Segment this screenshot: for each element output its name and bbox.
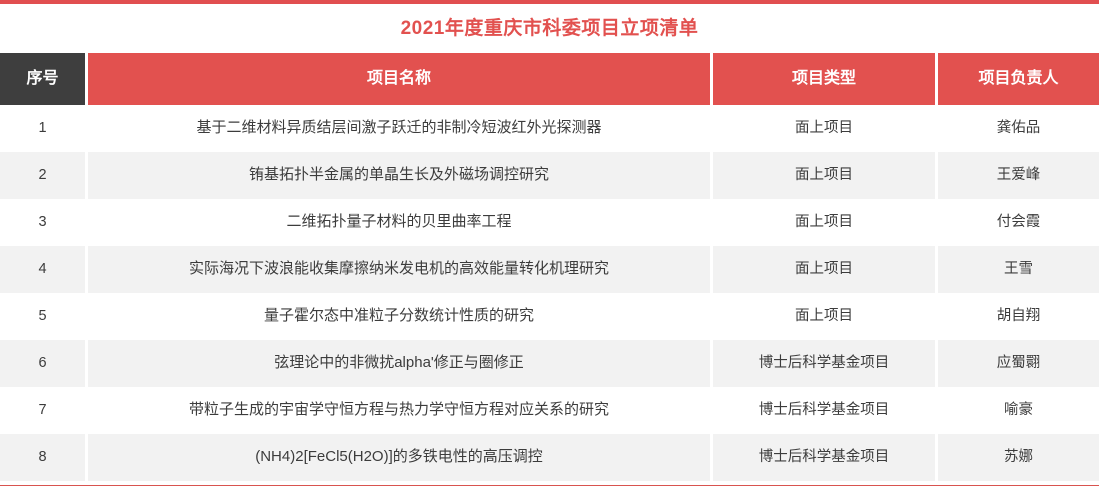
- cell-index: 1: [0, 105, 85, 152]
- cell-owner: 龚佑品: [935, 105, 1099, 152]
- table-header: 序号 项目名称 项目类型 项目负责人: [0, 53, 1099, 105]
- cell-owner: 王雪: [935, 246, 1099, 293]
- column-header-owner[interactable]: 项目负责人: [935, 53, 1099, 105]
- table-row[interactable]: 3二维拓扑量子材料的贝里曲率工程面上项目付会霞: [0, 199, 1099, 246]
- table-row[interactable]: 2铕基拓扑半金属的单晶生长及外磁场调控研究面上项目王爱峰: [0, 152, 1099, 199]
- cell-name: 弦理论中的非微扰alpha'修正与圈修正: [85, 340, 710, 387]
- cell-index: 5: [0, 293, 85, 340]
- cell-type: 面上项目: [710, 199, 935, 246]
- column-header-type[interactable]: 项目类型: [710, 53, 935, 105]
- project-table: 序号 项目名称 项目类型 项目负责人 1基于二维材料异质结层间激子跃迁的非制冷短…: [0, 53, 1099, 481]
- table-row[interactable]: 8(NH4)2[FeCl5(H2O)]的多铁电性的高压调控博士后科学基金项目苏娜: [0, 434, 1099, 481]
- cell-index: 4: [0, 246, 85, 293]
- cell-name: 基于二维材料异质结层间激子跃迁的非制冷短波红外光探测器: [85, 105, 710, 152]
- cell-owner: 喻豪: [935, 387, 1099, 434]
- cell-owner: 应蜀翾: [935, 340, 1099, 387]
- project-list-page: 2021年度重庆市科委项目立项清单 序号 项目名称 项目类型 项目负责人 1基于…: [0, 0, 1099, 489]
- cell-type: 面上项目: [710, 152, 935, 199]
- cell-owner: 苏娜: [935, 434, 1099, 481]
- cell-index: 6: [0, 340, 85, 387]
- bottom-accent-line: [0, 485, 1099, 487]
- cell-type: 面上项目: [710, 293, 935, 340]
- table-row[interactable]: 4实际海况下波浪能收集摩擦纳米发电机的高效能量转化机理研究面上项目王雪: [0, 246, 1099, 293]
- page-title: 2021年度重庆市科委项目立项清单: [401, 19, 699, 38]
- title-bar: 2021年度重庆市科委项目立项清单: [0, 4, 1099, 53]
- column-header-name[interactable]: 项目名称: [85, 53, 710, 105]
- table-row[interactable]: 7带粒子生成的宇宙学守恒方程与热力学守恒方程对应关系的研究博士后科学基金项目喻豪: [0, 387, 1099, 434]
- cell-type: 博士后科学基金项目: [710, 434, 935, 481]
- cell-name: 二维拓扑量子材料的贝里曲率工程: [85, 199, 710, 246]
- table-row[interactable]: 1基于二维材料异质结层间激子跃迁的非制冷短波红外光探测器面上项目龚佑品: [0, 105, 1099, 152]
- cell-type: 博士后科学基金项目: [710, 387, 935, 434]
- column-header-index[interactable]: 序号: [0, 53, 85, 105]
- cell-index: 3: [0, 199, 85, 246]
- cell-owner: 王爱峰: [935, 152, 1099, 199]
- table-header-row: 序号 项目名称 项目类型 项目负责人: [0, 53, 1099, 105]
- cell-index: 8: [0, 434, 85, 481]
- cell-index: 7: [0, 387, 85, 434]
- cell-name: (NH4)2[FeCl5(H2O)]的多铁电性的高压调控: [85, 434, 710, 481]
- cell-name: 带粒子生成的宇宙学守恒方程与热力学守恒方程对应关系的研究: [85, 387, 710, 434]
- cell-owner: 胡自翔: [935, 293, 1099, 340]
- cell-type: 博士后科学基金项目: [710, 340, 935, 387]
- table-body: 1基于二维材料异质结层间激子跃迁的非制冷短波红外光探测器面上项目龚佑品2铕基拓扑…: [0, 105, 1099, 481]
- table-row[interactable]: 6弦理论中的非微扰alpha'修正与圈修正博士后科学基金项目应蜀翾: [0, 340, 1099, 387]
- cell-type: 面上项目: [710, 246, 935, 293]
- cell-index: 2: [0, 152, 85, 199]
- cell-type: 面上项目: [710, 105, 935, 152]
- table-row[interactable]: 5量子霍尔态中准粒子分数统计性质的研究面上项目胡自翔: [0, 293, 1099, 340]
- cell-name: 实际海况下波浪能收集摩擦纳米发电机的高效能量转化机理研究: [85, 246, 710, 293]
- cell-owner: 付会霞: [935, 199, 1099, 246]
- cell-name: 量子霍尔态中准粒子分数统计性质的研究: [85, 293, 710, 340]
- cell-name: 铕基拓扑半金属的单晶生长及外磁场调控研究: [85, 152, 710, 199]
